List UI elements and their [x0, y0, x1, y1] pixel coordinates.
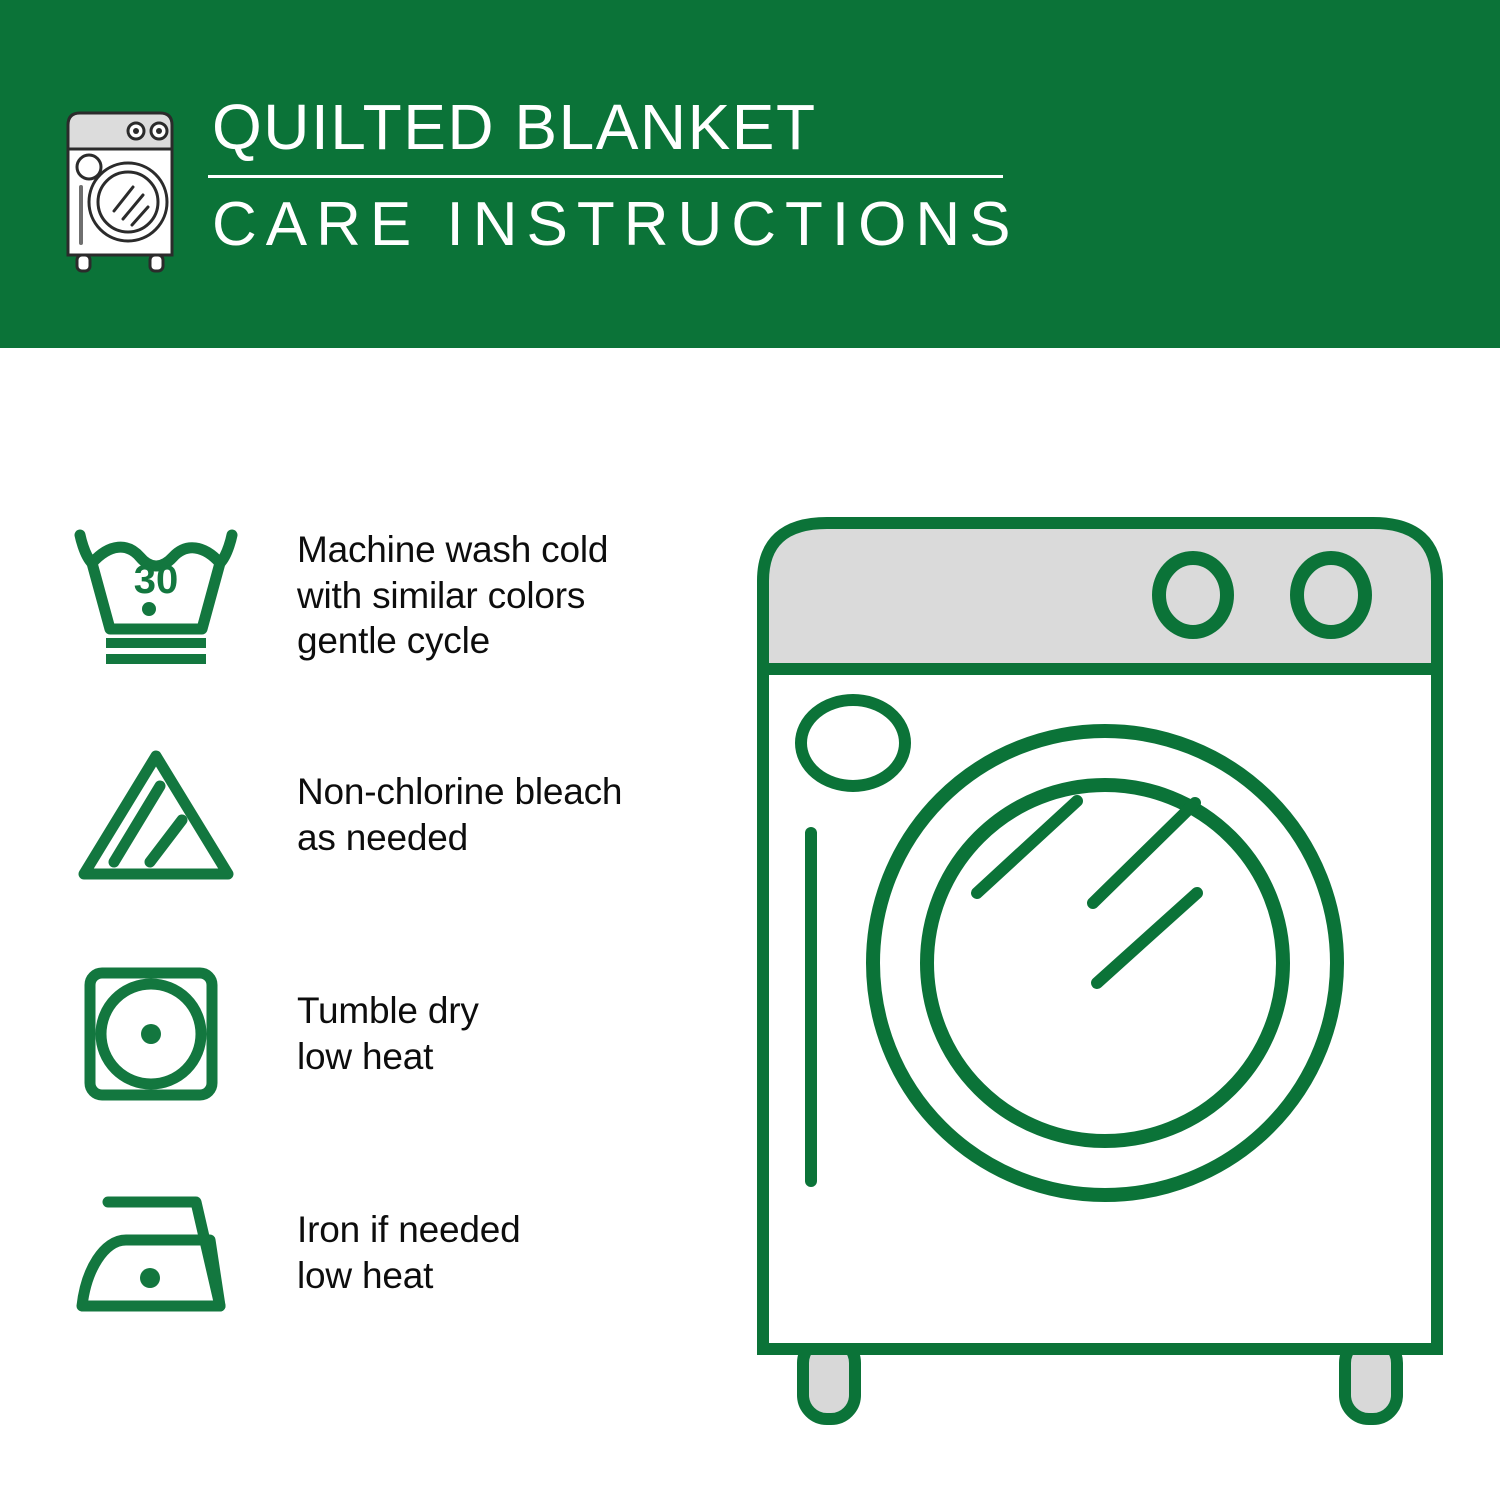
page-subtitle: CARE INSTRUCTIONS [208, 192, 1019, 257]
tumble-dry-icon [70, 959, 242, 1109]
line: Tumble dry [297, 988, 479, 1034]
iron-icon [70, 1178, 242, 1328]
list-item: Non-chlorine bleach as needed [70, 722, 710, 907]
front-load-washing-machine-graphic [745, 503, 1455, 1453]
washing-machine-icon [60, 103, 186, 275]
care-instruction-list: 30 Machine wash cold with similar colors… [70, 503, 710, 1345]
detergent-dispenser[interactable] [801, 700, 905, 786]
iron-low-icon [70, 1173, 245, 1333]
line: as needed [297, 815, 622, 861]
line: low heat [297, 1253, 520, 1299]
wash-temperature-label: 30 [134, 558, 179, 602]
list-item-text: Machine wash cold with similar colors ge… [297, 527, 608, 665]
knob-left[interactable] [1159, 558, 1227, 632]
door-inner-ring [927, 785, 1283, 1141]
tumble-dry-low-icon [70, 954, 245, 1114]
bleach-triangle-icon [70, 740, 242, 890]
line: Machine wash cold [297, 527, 608, 573]
line: with similar colors [297, 573, 608, 619]
header-banner: QUILTED BLANKET CARE INSTRUCTIONS [0, 0, 1500, 348]
line: low heat [297, 1034, 479, 1080]
content-area: 30 Machine wash cold with similar colors… [0, 348, 1500, 1500]
machine-wash-30-gentle-icon: 30 [70, 516, 245, 676]
list-item: 30 Machine wash cold with similar colors… [70, 503, 710, 688]
washing-machine-illustration [745, 503, 1455, 1453]
care-instructions-infographic: QUILTED BLANKET CARE INSTRUCTIONS 30 [0, 0, 1500, 1500]
header-title-group: QUILTED BLANKET CARE INSTRUCTIONS [208, 95, 1019, 257]
list-item-text: Non-chlorine bleach as needed [297, 769, 622, 861]
list-item-text: Iron if needed low heat [297, 1207, 520, 1299]
line: Non-chlorine bleach [297, 769, 622, 815]
list-item-text: Tumble dry low heat [297, 988, 479, 1080]
wash-tub-icon: 30 [70, 521, 242, 671]
header-content: QUILTED BLANKET CARE INSTRUCTIONS [60, 95, 1019, 275]
page-title: QUILTED BLANKET [208, 95, 1019, 159]
non-chlorine-bleach-icon [70, 735, 245, 895]
list-item: Iron if needed low heat [70, 1160, 710, 1345]
list-item: Tumble dry low heat [70, 941, 710, 1126]
line: Iron if needed [297, 1207, 520, 1253]
line: gentle cycle [297, 618, 608, 664]
knob-right[interactable] [1297, 558, 1365, 632]
title-divider [208, 175, 1003, 178]
